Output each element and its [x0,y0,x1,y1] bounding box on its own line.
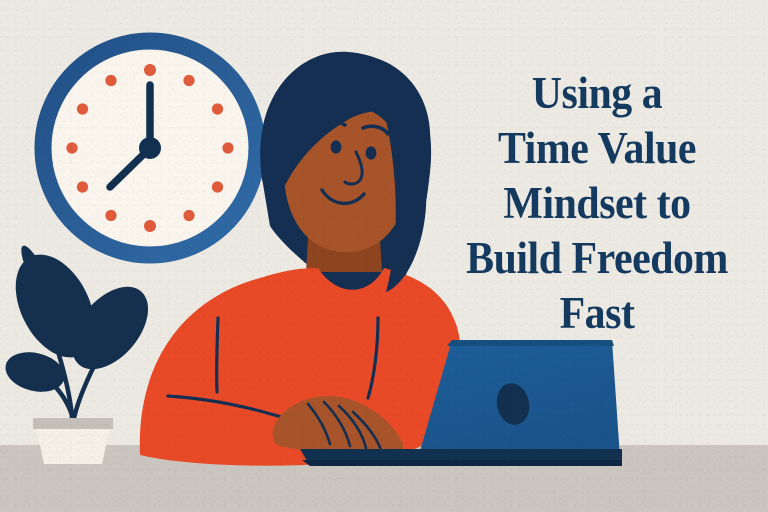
eye-right [366,146,377,159]
laptop-base-shadow [302,460,622,466]
plant-pot-rim [33,418,113,429]
sleeve-line-left [217,318,218,392]
eye-left [331,140,342,153]
headline-line-1: Using a [442,66,753,121]
page-headline: Using a Time Value Mindset to Build Free… [430,66,764,341]
poster-canvas: Using a Time Value Mindset to Build Free… [0,0,768,512]
headline-line-3: Mindset to [442,176,753,231]
headline-line-2: Time Value [442,121,753,176]
clock-center-cap [139,137,161,159]
wall-clock [43,41,257,255]
headline-line-5: Fast [442,286,753,341]
headline-line-4: Build Freedom [442,231,753,286]
